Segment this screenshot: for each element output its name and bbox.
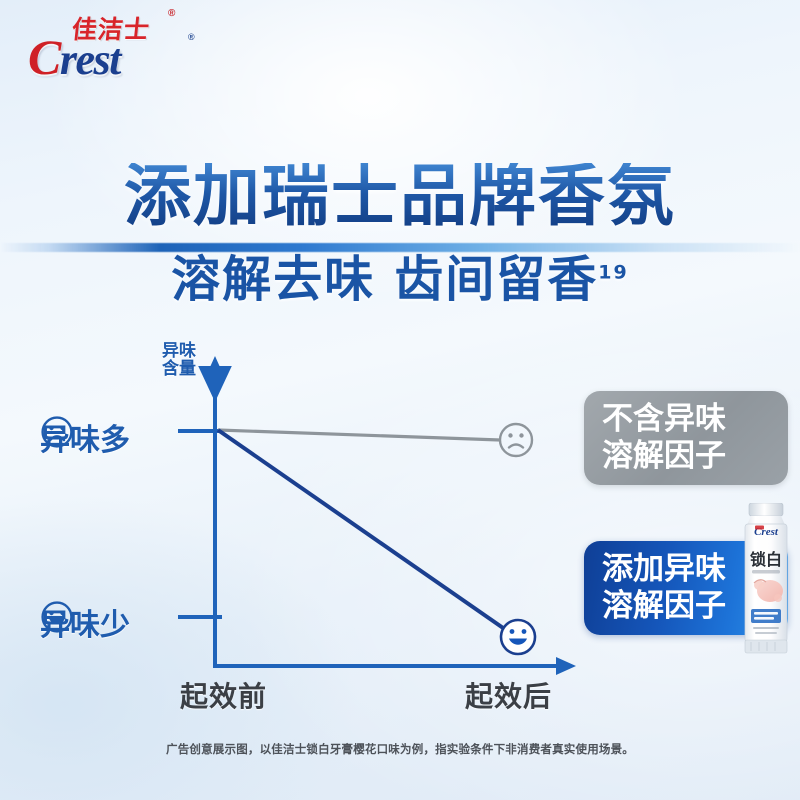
headline-sub-text: 溶解去味 齿间留香 bbox=[171, 251, 598, 308]
crest-brand-logo: 佳洁士 ® Crest ® bbox=[20, 8, 220, 72]
x-axis-label-before: 起效前 bbox=[180, 675, 267, 715]
logo-chinese-registered-mark: ® bbox=[168, 8, 175, 19]
odor-comparison-chart: 异味 含量 异味多 异味少 起效前 起效后 bbox=[0, 330, 800, 730]
series-line-blue bbox=[218, 430, 506, 630]
sad-face-icon bbox=[40, 415, 74, 449]
logo-letters-rest: rest bbox=[60, 35, 120, 84]
headline-main: 添加瑞士品牌香氛 bbox=[0, 163, 800, 230]
x-axis-arrowhead bbox=[556, 657, 576, 675]
series-endpoint-happy-face bbox=[501, 620, 535, 654]
y-level-low: 异味少 bbox=[40, 600, 130, 644]
headline-sub: 溶解去味 齿间留香19 bbox=[0, 253, 800, 307]
headline-sub-superscript: 19 bbox=[598, 262, 628, 284]
series-line-gray bbox=[218, 430, 500, 440]
series-endpoint-sad-face bbox=[500, 424, 532, 456]
y-axis-title: 异味 含量 bbox=[152, 343, 206, 379]
y-level-high: 异味多 bbox=[40, 415, 130, 459]
logo-english-wordmark: Crest bbox=[28, 28, 120, 86]
chart-svg bbox=[0, 330, 800, 730]
callout-without-factor-line1: 不含异味 bbox=[602, 401, 788, 438]
y-axis-title-line2: 含量 bbox=[152, 361, 206, 379]
product-toothpaste-tube: Crest 锁白 bbox=[740, 503, 792, 655]
tube-cap bbox=[749, 503, 783, 516]
callout-without-factor-line2: 溶解因子 bbox=[602, 438, 788, 475]
legal-disclaimer: 广告创意展示图，以佳洁士锁白牙膏樱花口味为例，指实验条件下非消费者真实使用场景。 bbox=[0, 741, 800, 757]
happy-face-icon bbox=[40, 600, 74, 634]
tube-claim-block bbox=[751, 609, 781, 623]
x-axis-label-after: 起效后 bbox=[465, 675, 552, 715]
y-axis-arrowhead bbox=[206, 356, 224, 376]
callout-without-factor: 不含异味 溶解因子 bbox=[584, 391, 788, 485]
logo-letter-c: C bbox=[28, 29, 60, 85]
logo-english-registered-mark: ® bbox=[188, 32, 195, 42]
tube-product-name: 锁白 bbox=[750, 550, 782, 569]
ad-canvas: 佳洁士 ® Crest ® 添加瑞士品牌香氛 溶解去味 齿间留香19 bbox=[0, 0, 800, 800]
